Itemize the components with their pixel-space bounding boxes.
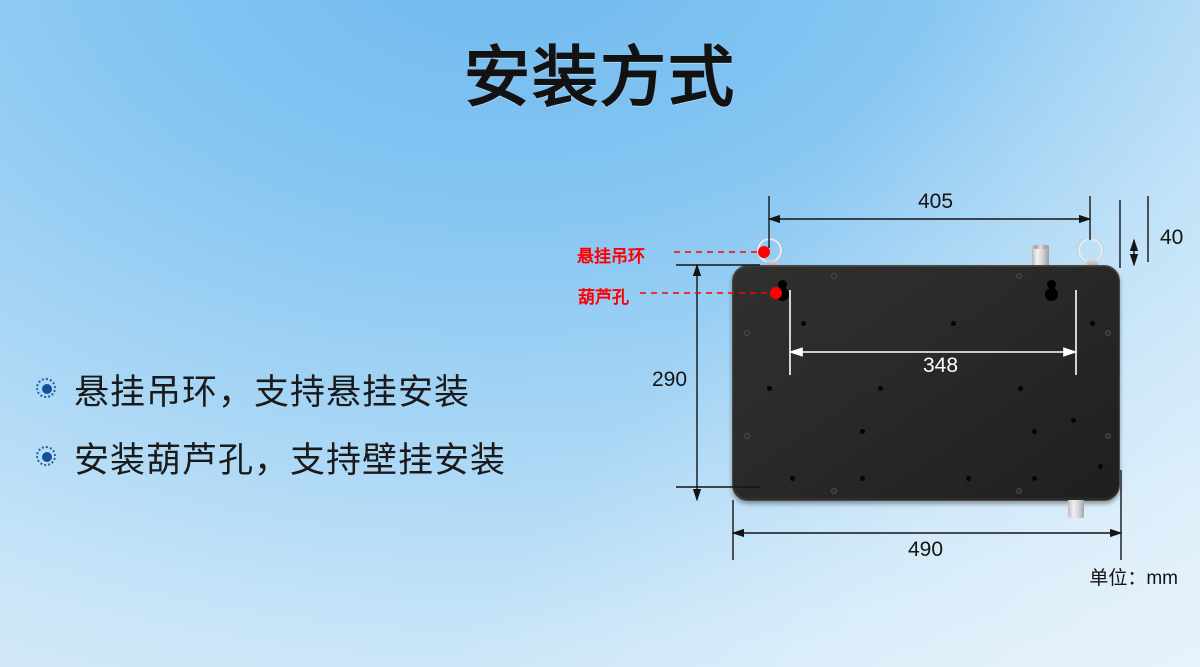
corner-screw-icon [1105,433,1111,439]
corner-screw-icon [1016,273,1022,279]
corner-screw-icon [831,273,837,279]
gourd-keyhole-left-icon [776,280,789,306]
list-item: 悬挂吊环，支持悬挂安装 [36,366,646,412]
dimension-label-405: 405 [918,190,953,214]
list-item-label: 悬挂吊环，支持悬挂安装 [74,364,470,415]
list-item-label: 安装葫芦孔，支持壁挂安装 [74,432,506,483]
callout-label-hanging-ring: 悬挂吊环 [577,242,645,267]
corner-screw-icon [831,488,837,494]
mount-hole [801,321,806,326]
corner-screw-icon [744,330,750,336]
dimension-label-290: 290 [652,368,687,392]
mount-hole [1032,476,1037,481]
product-back-panel [732,265,1120,501]
bottom-connector-icon [1068,500,1084,518]
dimension-label-490: 490 [908,538,943,562]
mount-hole [790,476,795,481]
feature-bullet-list: 悬挂吊环，支持悬挂安装 安装葫芦孔，支持壁挂安装 [36,366,646,502]
mount-hole [1018,386,1023,391]
mount-hole [1071,418,1076,423]
mount-hole [860,429,865,434]
list-item: 安装葫芦孔，支持壁挂安装 [36,434,646,480]
dimension-label-348: 348 [923,354,958,378]
mount-hole [1098,464,1103,469]
hanging-ring-right-icon [1078,238,1103,263]
unit-note: 单位：mm [1089,563,1178,590]
hanging-ring-left-icon [757,238,782,263]
corner-screw-icon [1016,488,1022,494]
mount-hole [966,476,971,481]
mount-hole [860,476,865,481]
mount-hole [1032,429,1037,434]
callout-label-gourd-hole: 葫芦孔 [578,283,629,308]
bullet-point-icon [36,446,58,468]
mount-hole [1090,321,1095,326]
corner-screw-icon [1105,330,1111,336]
mount-hole [951,321,956,326]
bullet-point-icon [36,378,58,400]
gourd-keyhole-right-icon [1045,280,1058,306]
slide-canvas: 安装方式 悬挂吊环，支持悬挂安装 安装葫芦孔，支持壁挂安装 [0,0,1200,667]
dimension-label-40: 40 [1160,226,1183,250]
mount-hole [878,386,883,391]
mount-hole [767,386,772,391]
cable-gland-connector-icon [1032,245,1049,266]
page-title: 安装方式 [0,42,1200,113]
corner-screw-icon [744,433,750,439]
